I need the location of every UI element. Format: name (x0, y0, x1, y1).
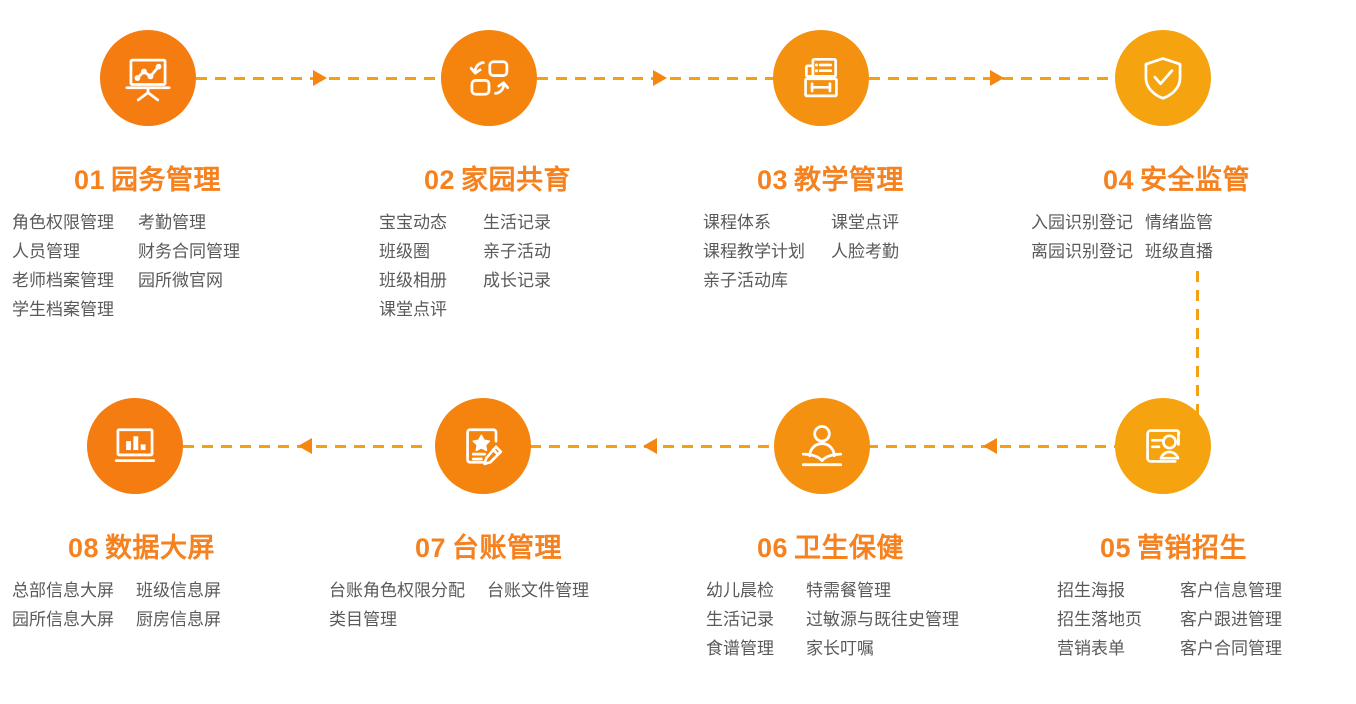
feature-item: 班级相册 (379, 266, 447, 295)
connector-07-to-08 (183, 445, 426, 448)
step-06-feature-column-1: 幼儿晨检 生活记录 食谱管理 (706, 576, 774, 663)
step-05-feature-list: 招生海报 招生落地页 营销表单 客户信息管理 客户跟进管理 客户合同管理 (1057, 576, 1282, 663)
step-06-icon-circle[interactable] (774, 398, 870, 494)
feature-item: 招生海报 (1057, 576, 1142, 605)
connector-04-to-05-vertical (1196, 271, 1199, 427)
step-01-icon-circle[interactable] (100, 30, 196, 126)
feature-item: 人脸考勤 (831, 237, 899, 266)
arrow-head-left-icon (983, 438, 997, 454)
step-05-label: 营销招生 (1137, 533, 1247, 563)
connector-02-to-03 (537, 77, 783, 80)
step-05-number: 05 (1100, 533, 1131, 563)
feature-item: 过敏源与既往史管理 (806, 605, 959, 634)
step-06-label: 卫生保健 (794, 533, 904, 563)
step-07-feature-list: 台账角色权限分配 类目管理 台账文件管理 (329, 576, 589, 634)
feature-item: 课堂点评 (379, 295, 447, 324)
feature-item: 台账文件管理 (487, 576, 589, 605)
feature-item: 情绪监管 (1145, 208, 1213, 237)
feature-item: 学生档案管理 (12, 295, 114, 324)
step-08-icon-circle[interactable] (87, 398, 183, 494)
step-06-feature-column-2: 特需餐管理 过敏源与既往史管理 家长叮嘱 (806, 576, 959, 663)
feature-item: 亲子活动 (483, 237, 551, 266)
feature-item: 班级信息屏 (136, 576, 221, 605)
step-02-icon-circle[interactable] (441, 30, 537, 126)
feature-item: 营销表单 (1057, 634, 1142, 663)
feature-item: 客户合同管理 (1180, 634, 1282, 663)
step-03-feature-list: 课程体系 课程教学计划 亲子活动库 课堂点评 人脸考勤 (703, 208, 899, 295)
feature-item: 园所信息大屏 (12, 605, 114, 634)
feature-item: 生活记录 (706, 605, 774, 634)
step-07-label: 台账管理 (452, 533, 562, 563)
process-step-06[interactable]: 06卫生保健 幼儿晨检 生活记录 食谱管理 特需餐管理 过敏源与既往史管理 家长… (678, 398, 1017, 688)
feature-item: 考勤管理 (138, 208, 240, 237)
monitor-bar-chart-icon (109, 420, 161, 472)
process-step-07[interactable]: 07台账管理 台账角色权限分配 类目管理 台账文件管理 (339, 398, 678, 688)
step-08-number: 08 (68, 533, 99, 563)
connector-05-to-06 (867, 445, 1115, 448)
step-04-icon-circle[interactable] (1115, 30, 1211, 126)
step-07-feature-column-1: 台账角色权限分配 类目管理 (329, 576, 465, 634)
feature-item: 类目管理 (329, 605, 465, 634)
feature-item: 成长记录 (483, 266, 551, 295)
step-07-number: 07 (415, 533, 446, 563)
feature-item: 生活记录 (483, 208, 551, 237)
step-06-feature-list: 幼儿晨检 生活记录 食谱管理 特需餐管理 过敏源与既往史管理 家长叮嘱 (706, 576, 959, 663)
step-04-label: 安全监管 (1140, 165, 1250, 195)
document-star-pencil-icon (457, 420, 509, 472)
step-01-feature-list: 角色权限管理 人员管理 老师档案管理 学生档案管理 考勤管理 财务合同管理 园所… (12, 208, 240, 324)
step-01-number: 01 (74, 165, 105, 195)
step-05-feature-column-1: 招生海报 招生落地页 营销表单 (1057, 576, 1142, 663)
infographic-canvas: 01园务管理 角色权限管理 人员管理 老师档案管理 学生档案管理 考勤管理 财务… (0, 0, 1356, 704)
step-01-circle-area (0, 30, 339, 126)
arrow-head-right-icon (653, 70, 667, 86)
connector-03-to-04 (869, 77, 1125, 80)
feature-item: 财务合同管理 (138, 237, 240, 266)
feature-item: 角色权限管理 (12, 208, 114, 237)
feature-item: 客户信息管理 (1180, 576, 1282, 605)
arrow-head-left-icon (643, 438, 657, 454)
feature-item: 班级直播 (1145, 237, 1213, 266)
process-step-04[interactable]: 04安全监管 入园识别登记 离园识别登记 情绪监管 班级直播 (1017, 30, 1356, 370)
step-06-number: 06 (757, 533, 788, 563)
step-03-feature-column-1: 课程体系 课程教学计划 亲子活动库 (703, 208, 805, 295)
feature-item: 园所微官网 (138, 266, 240, 295)
step-03-icon-circle[interactable] (773, 30, 869, 126)
feature-item: 特需餐管理 (806, 576, 959, 605)
process-row-bottom: 08数据大屏 总部信息大屏 园所信息大屏 班级信息屏 厨房信息屏 (0, 398, 1356, 688)
process-step-05[interactable]: 05营销招生 招生海报 招生落地页 营销表单 客户信息管理 客户跟进管理 客户合… (1017, 398, 1356, 688)
step-04-number: 04 (1103, 165, 1134, 195)
step-07-icon-circle[interactable] (435, 398, 531, 494)
step-03-label: 教学管理 (794, 165, 904, 195)
step-02-feature-column-1: 宝宝动态 班级圈 班级相册 课堂点评 (379, 208, 447, 324)
arrow-head-right-icon (990, 70, 1004, 86)
step-05-feature-column-2: 客户信息管理 客户跟进管理 客户合同管理 (1180, 576, 1282, 663)
step-01-label: 园务管理 (111, 165, 221, 195)
feature-item: 人员管理 (12, 237, 114, 266)
feature-item: 离园识别登记 (1031, 237, 1133, 266)
lectern-desk-icon (795, 52, 847, 104)
step-04-title: 04安全监管 (1103, 158, 1356, 197)
feature-item: 厨房信息屏 (136, 605, 221, 634)
process-step-01[interactable]: 01园务管理 角色权限管理 人员管理 老师档案管理 学生档案管理 考勤管理 财务… (0, 30, 339, 370)
step-08-feature-column-2: 班级信息屏 厨房信息屏 (136, 576, 221, 634)
step-08-feature-list: 总部信息大屏 园所信息大屏 班级信息屏 厨房信息屏 (12, 576, 221, 634)
step-04-feature-column-1: 入园识别登记 离园识别登记 (1031, 208, 1133, 266)
feature-item: 班级圈 (379, 237, 447, 266)
step-03-feature-column-2: 课堂点评 人脸考勤 (831, 208, 899, 295)
connector-01-to-02 (196, 77, 444, 80)
process-step-08[interactable]: 08数据大屏 总部信息大屏 园所信息大屏 班级信息屏 厨房信息屏 (0, 398, 339, 688)
step-08-feature-column-1: 总部信息大屏 园所信息大屏 (12, 576, 114, 634)
feature-item: 课程体系 (703, 208, 805, 237)
step-01-feature-column-1: 角色权限管理 人员管理 老师档案管理 学生档案管理 (12, 208, 114, 324)
step-05-title: 05营销招生 (1100, 526, 1356, 565)
step-01-feature-column-2: 考勤管理 财务合同管理 园所微官网 (138, 208, 240, 324)
feature-item: 亲子活动库 (703, 266, 805, 295)
contact-card-icon (1137, 420, 1189, 472)
feature-item: 家长叮嘱 (806, 634, 959, 663)
feature-item: 招生落地页 (1057, 605, 1142, 634)
step-03-number: 03 (757, 165, 788, 195)
feature-item: 入园识别登记 (1031, 208, 1133, 237)
feature-item: 宝宝动态 (379, 208, 447, 237)
step-02-feature-list: 宝宝动态 班级圈 班级相册 课堂点评 生活记录 亲子活动 成长记录 (379, 208, 551, 324)
feature-item: 食谱管理 (706, 634, 774, 663)
presentation-chart-icon (122, 52, 174, 104)
exchange-sync-icon (463, 52, 515, 104)
feature-item: 客户跟进管理 (1180, 605, 1282, 634)
connector-06-to-07 (530, 445, 774, 448)
shield-check-icon (1137, 52, 1189, 104)
arrow-head-right-icon (313, 70, 327, 86)
step-02-feature-column-2: 生活记录 亲子活动 成长记录 (483, 208, 551, 324)
step-05-icon-circle[interactable] (1115, 398, 1211, 494)
person-reading-book-icon (796, 420, 848, 472)
process-step-03[interactable]: 03教学管理 课程体系 课程教学计划 亲子活动库 课堂点评 人脸考勤 (678, 30, 1017, 370)
feature-item: 课程教学计划 (703, 237, 805, 266)
feature-item: 台账角色权限分配 (329, 576, 465, 605)
step-04-feature-column-2: 情绪监管 班级直播 (1145, 208, 1213, 266)
feature-item: 幼儿晨检 (706, 576, 774, 605)
step-02-label: 家园共育 (461, 165, 571, 195)
feature-item: 总部信息大屏 (12, 576, 114, 605)
step-04-feature-list: 入园识别登记 离园识别登记 情绪监管 班级直播 (1031, 208, 1213, 266)
step-08-label: 数据大屏 (105, 533, 215, 563)
process-step-02[interactable]: 02家园共育 宝宝动态 班级圈 班级相册 课堂点评 生活记录 亲子活动 成长记录 (339, 30, 678, 370)
arrow-head-left-icon (298, 438, 312, 454)
step-02-number: 02 (424, 165, 455, 195)
feature-item: 老师档案管理 (12, 266, 114, 295)
step-07-feature-column-2: 台账文件管理 (487, 576, 589, 634)
process-row-top: 01园务管理 角色权限管理 人员管理 老师档案管理 学生档案管理 考勤管理 财务… (0, 30, 1356, 370)
feature-item: 课堂点评 (831, 208, 899, 237)
step-05-circle-area (1017, 398, 1356, 494)
